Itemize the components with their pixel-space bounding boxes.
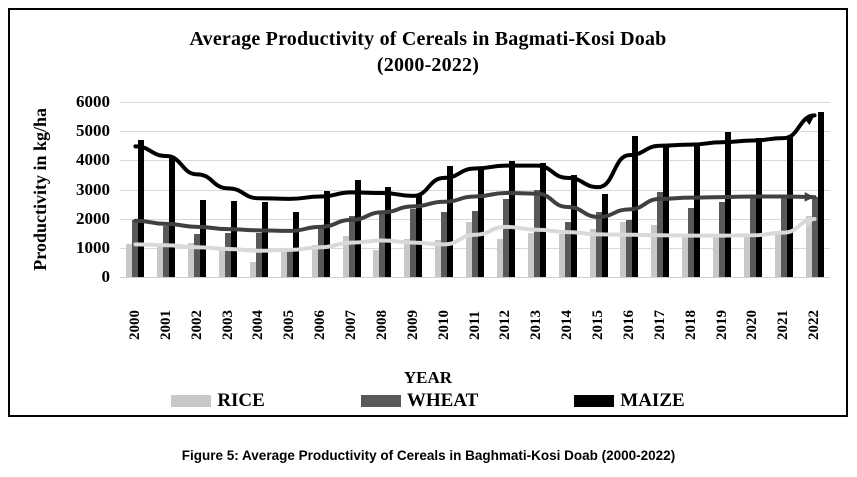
- x-axis-tick-text: 2002: [189, 280, 206, 340]
- bar-maize: [571, 175, 577, 277]
- bar-group: [552, 102, 583, 277]
- bar-maize: [447, 166, 453, 277]
- figure-page: Average Productivity of Cereals in Bagma…: [0, 0, 857, 477]
- legend-label: MAIZE: [620, 390, 684, 412]
- x-axis-tick-label: 2019: [707, 280, 738, 340]
- x-axis-tick-label: 2007: [336, 280, 367, 340]
- y-axis-title: Productivity in kg/ha: [26, 102, 54, 277]
- bar-maize: [540, 163, 546, 277]
- bar-maize: [787, 136, 793, 277]
- x-axis-tick-text: 2021: [775, 280, 792, 340]
- y-axis-tick-label: 0: [102, 267, 111, 287]
- bar-maize: [509, 161, 515, 277]
- bar-maize: [293, 212, 299, 277]
- bar-group: [305, 102, 336, 277]
- bar-group: [120, 102, 151, 277]
- x-axis-tick-text: 2012: [497, 280, 514, 340]
- x-axis-tick-label: 2000: [120, 280, 151, 340]
- chart-title: Average Productivity of Cereals in Bagma…: [10, 26, 846, 78]
- x-axis-tick-text: 2018: [683, 280, 700, 340]
- x-axis-tick-text: 2008: [374, 280, 391, 340]
- legend-swatch-rice: [171, 395, 211, 407]
- bar-group: [738, 102, 769, 277]
- x-axis-tick-text: 2006: [312, 280, 329, 340]
- chart-legend: RICEWHEATMAIZE: [10, 388, 846, 414]
- legend-item-maize[interactable]: MAIZE: [574, 390, 684, 412]
- y-axis-tick-label: 6000: [76, 92, 110, 112]
- y-axis-tick-label: 1000: [76, 238, 110, 258]
- x-axis-tick-text: 2010: [436, 280, 453, 340]
- bar-series-container: [120, 102, 830, 277]
- bar-group: [429, 102, 460, 277]
- x-axis-tick-label: 2001: [151, 280, 182, 340]
- x-axis-tick-label: 2009: [398, 280, 429, 340]
- legend-swatch-maize: [574, 395, 614, 407]
- x-axis-tick-text: 2016: [621, 280, 638, 340]
- x-axis-tick-label: 2004: [244, 280, 275, 340]
- x-axis-tick-text: 2001: [158, 280, 175, 340]
- bar-group: [151, 102, 182, 277]
- x-axis-tick-label: 2015: [583, 280, 614, 340]
- bar-group: [707, 102, 738, 277]
- bar-maize: [694, 145, 700, 277]
- bar-maize: [231, 201, 237, 277]
- bar-group: [521, 102, 552, 277]
- x-axis-tick-label: 2010: [429, 280, 460, 340]
- y-axis-tick-label: 2000: [76, 209, 110, 229]
- y-axis-tick-label: 3000: [76, 180, 110, 200]
- bar-maize: [262, 202, 268, 277]
- x-axis-tick-label: 2005: [274, 280, 305, 340]
- bar-maize: [200, 200, 206, 277]
- y-axis-tick-label: 4000: [76, 150, 110, 170]
- x-axis-tick-text: 2015: [590, 280, 607, 340]
- bar-group: [244, 102, 275, 277]
- bar-group: [336, 102, 367, 277]
- x-axis-tick-text: 2009: [405, 280, 422, 340]
- x-axis-tick-text: 2011: [467, 280, 484, 340]
- x-axis-tick-text: 2020: [744, 280, 761, 340]
- x-axis-tick-text: 2014: [559, 280, 576, 340]
- x-axis-tick-text: 2005: [281, 280, 298, 340]
- x-axis-tick-label: 2022: [799, 280, 830, 340]
- bar-group: [460, 102, 491, 277]
- bar-maize: [385, 187, 391, 277]
- x-axis-labels: 2000200120022003200420052006200720082009…: [120, 280, 830, 340]
- legend-swatch-wheat: [361, 395, 401, 407]
- plot-area: 6000500040003000200010000: [120, 102, 830, 277]
- bar-group: [367, 102, 398, 277]
- bar-group: [491, 102, 522, 277]
- bar-maize: [416, 194, 422, 277]
- chart-frame: Average Productivity of Cereals in Bagma…: [8, 8, 848, 417]
- x-axis-tick-text: 2019: [714, 280, 731, 340]
- x-axis-tick-text: 2022: [806, 280, 823, 340]
- bar-group: [583, 102, 614, 277]
- bar-maize: [355, 180, 361, 277]
- x-axis-tick-label: 2011: [460, 280, 491, 340]
- bar-maize: [756, 138, 762, 277]
- bar-maize: [169, 156, 175, 277]
- bar-group: [398, 102, 429, 277]
- bar-group: [676, 102, 707, 277]
- x-axis-tick-label: 2002: [182, 280, 213, 340]
- legend-item-rice[interactable]: RICE: [171, 390, 265, 412]
- gridline: [120, 277, 830, 278]
- x-axis-tick-label: 2013: [521, 280, 552, 340]
- x-axis-tick-text: 2013: [528, 280, 545, 340]
- x-axis-tick-label: 2020: [738, 280, 769, 340]
- chart-title-line1: Average Productivity of Cereals in Bagma…: [189, 28, 666, 50]
- bar-maize: [632, 136, 638, 277]
- x-axis-tick-label: 2014: [552, 280, 583, 340]
- x-axis-tick-text: 2007: [343, 280, 360, 340]
- bar-maize: [818, 112, 824, 277]
- bar-group: [274, 102, 305, 277]
- bar-group: [182, 102, 213, 277]
- bar-group: [645, 102, 676, 277]
- legend-label: WHEAT: [407, 390, 478, 412]
- x-axis-tick-label: 2021: [768, 280, 799, 340]
- x-axis-tick-label: 2016: [614, 280, 645, 340]
- x-axis-tick-text: 2004: [250, 280, 267, 340]
- bar-maize: [602, 194, 608, 277]
- bar-maize: [138, 140, 144, 277]
- bar-maize: [324, 191, 330, 277]
- bar-group: [213, 102, 244, 277]
- legend-label: RICE: [217, 390, 265, 412]
- x-axis-tick-label: 2018: [676, 280, 707, 340]
- x-axis-tick-label: 2017: [645, 280, 676, 340]
- bar-maize: [478, 168, 484, 277]
- x-axis-tick-text: 2000: [127, 280, 144, 340]
- x-axis-tick-label: 2008: [367, 280, 398, 340]
- x-axis-title: YEAR: [10, 368, 846, 388]
- x-axis-tick-text: 2003: [220, 280, 237, 340]
- x-axis-tick-text: 2017: [652, 280, 669, 340]
- plot-canvas: 6000500040003000200010000: [120, 102, 830, 277]
- bar-maize: [663, 144, 669, 277]
- x-axis-tick-label: 2012: [491, 280, 522, 340]
- y-axis-tick-label: 5000: [76, 121, 110, 141]
- bar-group: [768, 102, 799, 277]
- legend-item-wheat[interactable]: WHEAT: [361, 390, 478, 412]
- figure-caption: Figure 5: Average Productivity of Cereal…: [0, 448, 857, 463]
- x-axis-tick-label: 2006: [305, 280, 336, 340]
- bar-group: [799, 102, 830, 277]
- bar-group: [614, 102, 645, 277]
- chart-title-line2: (2000-2022): [10, 52, 846, 78]
- x-axis-tick-label: 2003: [213, 280, 244, 340]
- bar-maize: [725, 132, 731, 277]
